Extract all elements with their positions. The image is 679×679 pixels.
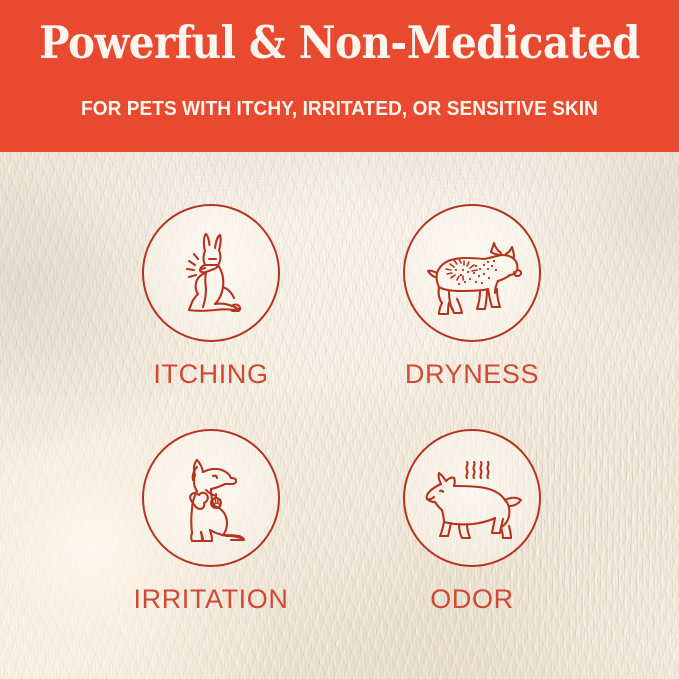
headline: Powerful & Non-Medicated xyxy=(34,17,645,69)
benefit-item-irritation: IRRITATION xyxy=(81,429,341,614)
benefit-item-dryness: DRYNESS xyxy=(342,204,602,389)
benefit-label-irritation: IRRITATION xyxy=(81,584,341,614)
header-banner: Powerful & Non-Medicated FOR PETS WITH I… xyxy=(0,0,679,152)
benefit-label-odor: ODOR xyxy=(342,584,602,614)
benefit-label-itching: ITCHING xyxy=(81,359,341,389)
dog-scratching-icon xyxy=(142,204,280,342)
product-feature-graphic: Powerful & Non-Medicated FOR PETS WITH I… xyxy=(0,0,679,679)
benefit-icon-grid: ITCHING xyxy=(0,152,679,679)
dog-flaky-skin-icon xyxy=(403,204,541,342)
benefit-label-dryness: DRYNESS xyxy=(342,359,602,389)
dog-irritated-patches-icon xyxy=(142,429,280,567)
dog-odor-lines-icon xyxy=(403,429,541,567)
benefit-item-itching: ITCHING xyxy=(81,204,341,389)
subheadline: FOR PETS WITH ITCHY, IRRITATED, OR SENSI… xyxy=(17,96,662,122)
benefit-item-odor: ODOR xyxy=(342,429,602,614)
